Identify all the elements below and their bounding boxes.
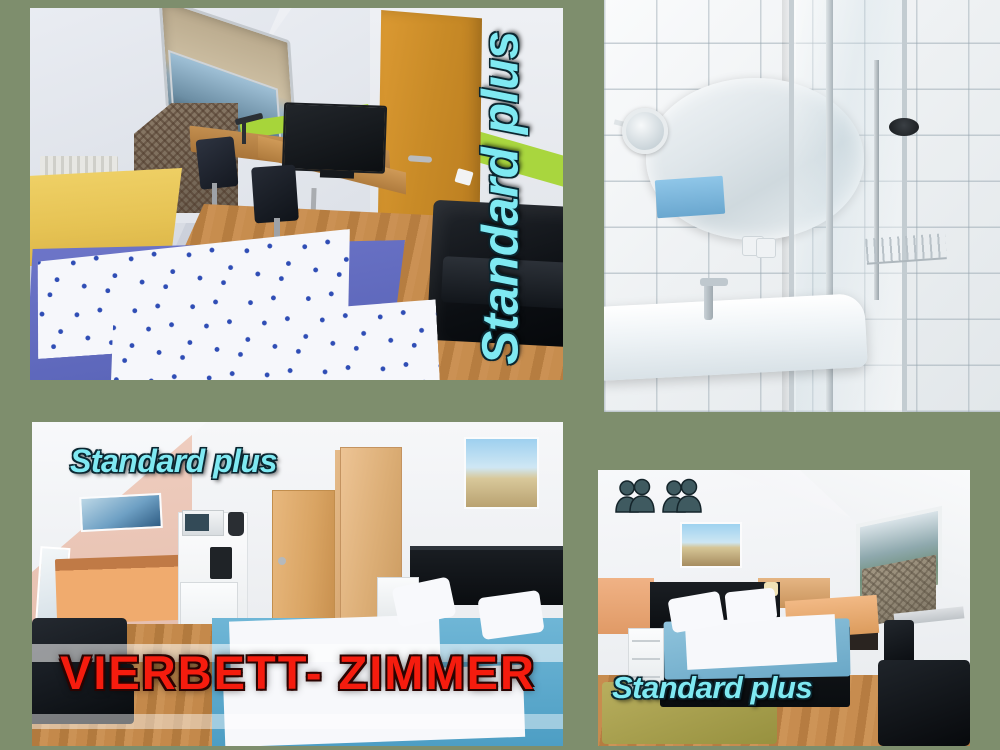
- television-stand: [320, 170, 354, 178]
- photo-light-band-2: [32, 714, 563, 729]
- television: [282, 102, 387, 174]
- nightstand-drawer-2: [632, 658, 660, 660]
- four-bed-room-photo: [32, 422, 563, 746]
- nightstand-drawer-3: [632, 676, 660, 678]
- bench-bed: [55, 555, 182, 624]
- desk-chair: [884, 620, 914, 664]
- pillow-2: [477, 590, 544, 640]
- shower-shelf-rack: [865, 233, 947, 265]
- power-outlet-2: [756, 238, 776, 258]
- shower-head-photo: [889, 118, 919, 136]
- microwave-window: [185, 514, 209, 531]
- nightstand: [628, 628, 664, 692]
- wall-picture-left: [79, 493, 163, 532]
- coffee-machine: [210, 547, 232, 579]
- faucet: [704, 282, 713, 320]
- faucet-spout: [700, 278, 728, 286]
- washbasin: [604, 293, 868, 381]
- photo-light-band-1: [32, 644, 563, 662]
- magnifying-mirror: [622, 108, 668, 154]
- kettle: [228, 512, 244, 536]
- photo-collage: Standard plus WC: [0, 0, 1000, 750]
- desk-chair-back-2: [251, 165, 299, 224]
- photo-panel-attic-room[interactable]: Standard plus: [30, 8, 563, 380]
- people-group-icon: [614, 478, 708, 518]
- desk-lamp-post: [242, 120, 246, 144]
- room-door: [272, 490, 335, 622]
- nightstand-drawer-1: [632, 640, 660, 642]
- sofa-seat: [441, 256, 563, 310]
- door-handle: [278, 557, 286, 565]
- armchair: [878, 660, 970, 746]
- wall-picture-right: [464, 437, 539, 509]
- photo-panel-bathroom[interactable]: WC BAD Standard line: [604, 0, 1000, 412]
- desk-chair-back-1: [195, 136, 238, 190]
- bathroom-photo: [604, 0, 1000, 412]
- duvet-starred-2: [223, 665, 525, 746]
- pillow-2: [724, 587, 777, 624]
- attic-room-photo: [30, 8, 563, 380]
- mirror-reflection: [655, 176, 725, 219]
- wall-picture: [680, 522, 742, 568]
- photo-panel-four-bed-room[interactable]: [32, 422, 563, 746]
- wall-accent-orange: [598, 578, 654, 634]
